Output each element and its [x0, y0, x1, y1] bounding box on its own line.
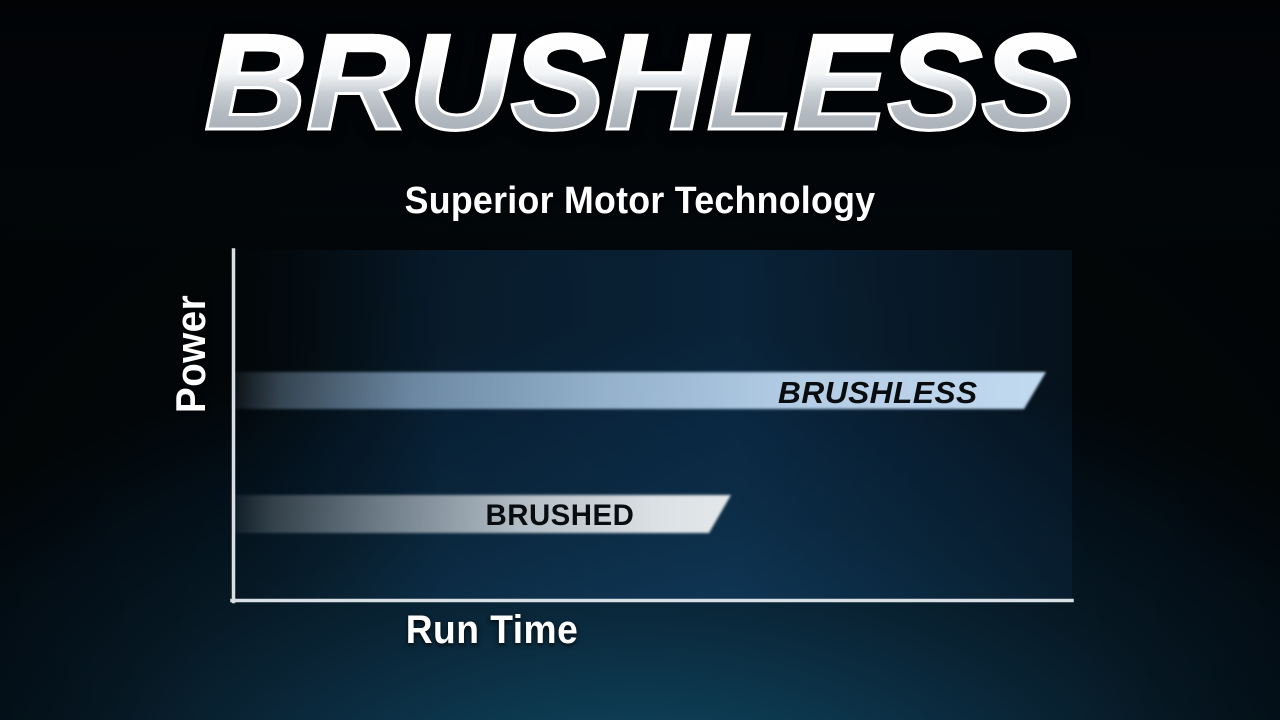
x-axis-label: Run Time — [250, 608, 734, 653]
title-block: BRUSHLESS — [0, 14, 1280, 150]
power-band-brushed — [232, 495, 731, 533]
page-subtitle: Superior Motor Technology — [38, 180, 1241, 223]
poster-canvas: BRUSHLESS Superior Motor Technology Powe… — [0, 0, 1280, 720]
brushless-series-label: BRUSHLESS — [778, 375, 978, 411]
brushed-series-label: BRUSHED — [486, 499, 635, 533]
page-title: BRUSHLESS — [204, 14, 1075, 150]
y-axis-label: Power — [167, 371, 215, 413]
